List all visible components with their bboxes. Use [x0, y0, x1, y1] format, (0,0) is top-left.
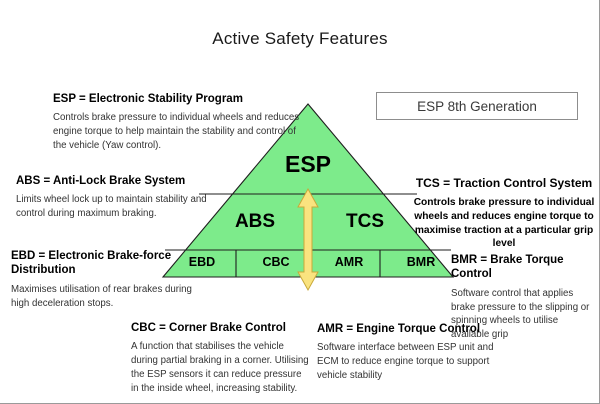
- annotation-amr-body: Software interface between ESP unit and …: [317, 341, 507, 382]
- annotation-ebd-title: EBD = Electronic Brake-force Distributio…: [11, 249, 196, 278]
- annotation-cbc: CBC = Corner Brake Control A function th…: [131, 321, 309, 395]
- annotation-abs-body: Limits wheel lock up to maintain stabili…: [16, 193, 231, 221]
- annotation-cbc-title: CBC = Corner Brake Control: [131, 321, 309, 335]
- annotation-amr: AMR = Engine Torque Control Software int…: [317, 322, 507, 383]
- annotation-tcs-body: Controls brake pressure to individual wh…: [408, 196, 600, 251]
- annotation-abs-title: ABS = Anti-Lock Brake System: [16, 174, 231, 188]
- annotation-esp-title: ESP = Electronic Stability Program: [53, 92, 303, 106]
- annotation-bmr-title: BMR = Brake Torque Control: [451, 253, 599, 282]
- annotation-ebd-body: Maximises utilisation of rear brakes dur…: [11, 283, 196, 311]
- pyramid-label-esp: ESP: [258, 151, 358, 178]
- annotation-esp: ESP = Electronic Stability Program Contr…: [53, 92, 303, 153]
- pyramid-label-tcs: TCS: [325, 211, 405, 233]
- annotation-cbc-body: A function that stabilises the vehicle d…: [131, 340, 309, 395]
- pyramid-label-amr: AMR: [313, 255, 385, 269]
- annotation-abs: ABS = Anti-Lock Brake System Limits whee…: [16, 174, 231, 221]
- annotation-ebd: EBD = Electronic Brake-force Distributio…: [11, 249, 196, 310]
- pyramid-label-cbc: CBC: [240, 255, 312, 269]
- annotation-esp-body: Controls brake pressure to individual wh…: [53, 111, 303, 152]
- annotation-tcs: TCS = Traction Control System Controls b…: [408, 176, 600, 251]
- annotation-amr-title: AMR = Engine Torque Control: [317, 322, 507, 336]
- annotation-tcs-title: TCS = Traction Control System: [408, 176, 600, 191]
- pyramid-label-bmr: BMR: [385, 255, 457, 269]
- active-safety-features-diagram: Active Safety Features ESP 8th Generatio…: [0, 0, 600, 404]
